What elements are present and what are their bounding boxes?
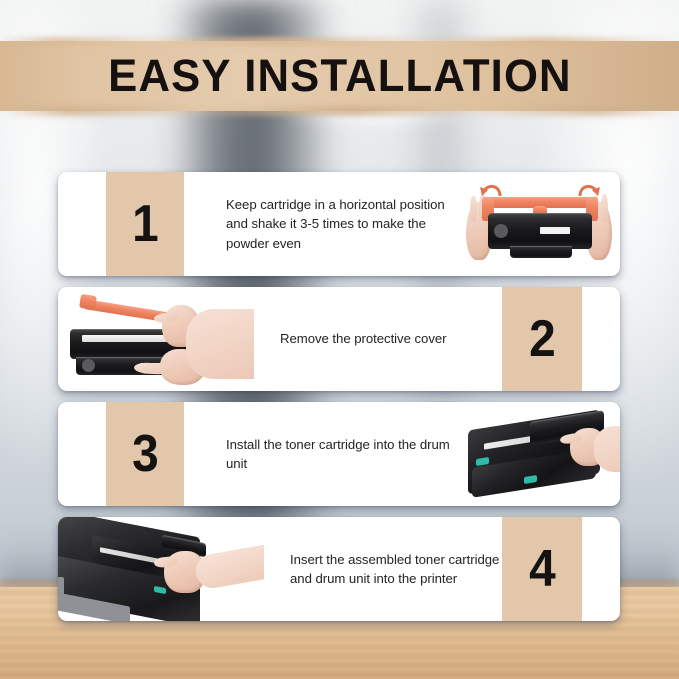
- step-image-2: [58, 287, 254, 391]
- step-text-1: Keep cartridge in a horizontal position …: [184, 172, 458, 276]
- cartridge-gear-2: [82, 359, 95, 372]
- left-finger-1: [470, 196, 477, 222]
- step-text-3: Install the toner cartridge into the dru…: [184, 402, 462, 506]
- step-image-1: [458, 172, 620, 276]
- page-title: EASY INSTALLATION: [108, 50, 572, 102]
- step-card-1: 1 Keep cartridge in a horizontal positio…: [58, 172, 620, 276]
- step-card-2: Remove the protective cover 2: [58, 287, 620, 391]
- step-number-box-2: 2: [502, 287, 582, 391]
- illustration-remove-cover: [58, 287, 254, 391]
- forearm: [186, 309, 254, 379]
- step-card-4: Insert the assembled toner cartridge and…: [58, 517, 620, 621]
- step-text-4: Insert the assembled toner cartridge and…: [264, 517, 502, 621]
- step-number-box-1: 1: [106, 172, 184, 276]
- cartridge-label: [540, 227, 570, 234]
- step-number-box-3: 3: [106, 402, 184, 506]
- step-number-2: 2: [529, 313, 556, 365]
- shake-arrow-right-icon: [576, 180, 602, 200]
- illustration-install-drum: [462, 402, 620, 506]
- illustration-shake-cartridge: [458, 172, 620, 276]
- step-number-4: 4: [529, 543, 556, 595]
- step-card-3: 3 Install the toner cartridge into the d…: [58, 402, 620, 506]
- orange-cover-end-tab: [79, 294, 97, 310]
- step-number-3: 3: [132, 428, 159, 480]
- step-text-2: Remove the protective cover: [254, 287, 502, 391]
- toner-cartridge-lower: [510, 246, 572, 258]
- step-image-4: [58, 517, 264, 621]
- title-banner: EASY INSTALLATION: [0, 41, 679, 111]
- cartridge-gear: [494, 224, 508, 238]
- step-image-3: [462, 402, 620, 506]
- illustration-insert-printer: [58, 517, 264, 621]
- printer-side-panel: [58, 577, 64, 611]
- step-number-1: 1: [132, 198, 159, 250]
- shake-arrow-left-icon: [478, 180, 504, 200]
- right-finger-2: [601, 194, 608, 222]
- forearm-3: [594, 426, 620, 472]
- step-number-box-4: 4: [502, 517, 582, 621]
